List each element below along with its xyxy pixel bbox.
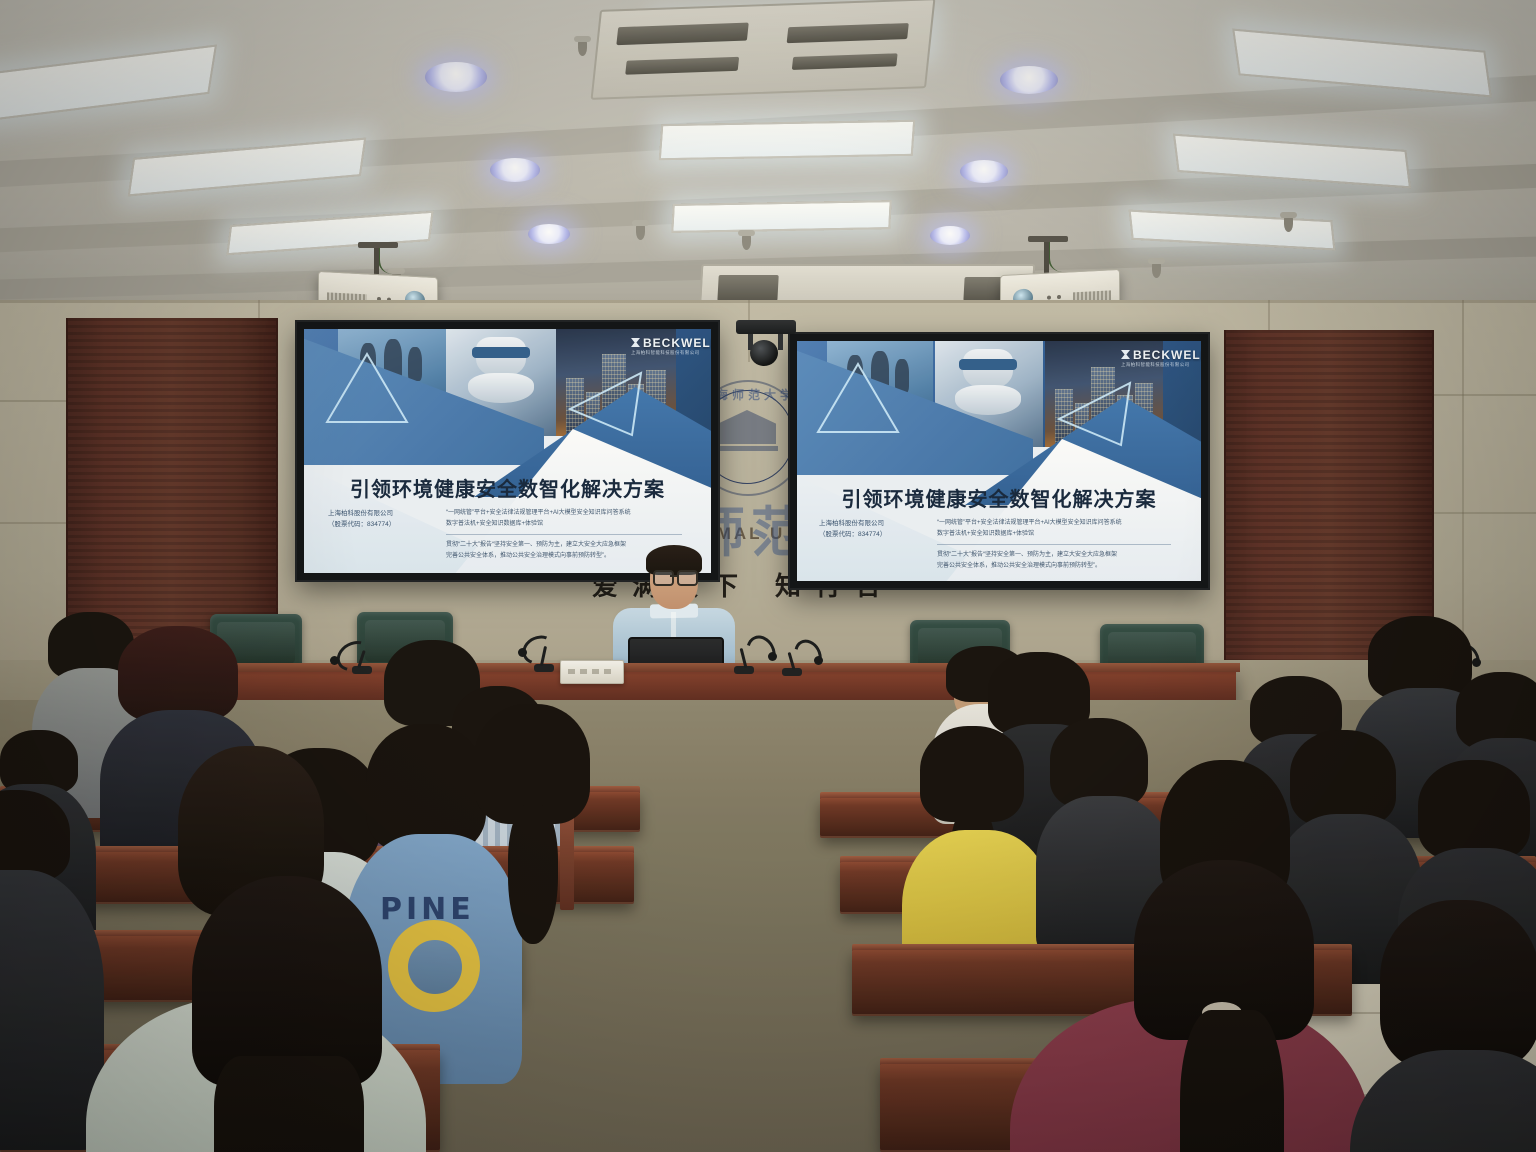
ponytail — [1180, 1010, 1284, 1152]
lecture-hall-photo: 上海师范大学 MAL U 师范 爱满天下 知行合一 — [0, 0, 1536, 1152]
slide-title: 引领环境健康安全数智化解决方案 — [797, 483, 1201, 512]
slide-body-line4: 完善公共安全体系，推动公共安全治理模式向事前预防转型”。 — [937, 562, 1101, 572]
sprinkler-head — [1284, 216, 1293, 232]
sprinkler-head — [1152, 262, 1161, 278]
slide-title: 引领环境健康安全数智化解决方案 — [304, 473, 711, 502]
slide-body-line3: 贯彻“二十大”报告“坚持安全第一、预防为主，建立大安全大应急框架 — [937, 551, 1117, 561]
hair-fall — [214, 1056, 364, 1152]
slide-right: BECKWELL 上海柏科智能科技股份有限公司 引领环境健康安全数智化解决方案 … — [797, 341, 1201, 581]
slide-body-line4: 完善公共安全体系，推动公共安全治理模式向事前预防转型”。 — [446, 552, 610, 562]
desk-nameplate — [560, 660, 624, 684]
backpack-text: PINE — [380, 892, 475, 927]
beckwell-logo: BECKWELL — [643, 336, 711, 350]
ceiling-downlight — [425, 62, 487, 92]
triangle-outline-right — [566, 369, 646, 439]
slide-company: 上海柏科股份有限公司 — [819, 519, 884, 529]
beckwell-logo: BECKWELL — [1133, 348, 1201, 362]
ceiling-light-panel — [671, 200, 891, 233]
triangle-outline-left — [815, 361, 901, 435]
slide-body-line1: “一网统管”平台+安全法律法规管理平台+AI大模型安全知识库问答系统 — [446, 509, 631, 519]
ceiling-downlight — [490, 158, 540, 182]
slide-body-line2: 数字普法机+安全知识数据库+体验馆 — [937, 530, 1034, 540]
beckwell-logo-subtext: 上海柏科智能科技股份有限公司 — [1121, 362, 1189, 368]
sprinkler-head — [636, 224, 645, 240]
backpack-patch-inner — [408, 940, 462, 994]
ceiling-downlight — [1000, 66, 1058, 94]
slide-stock-code: （股票代码：834774） — [819, 530, 886, 540]
ceiling-light-panel — [1129, 210, 1336, 251]
ceiling-light-panel — [659, 120, 915, 160]
projection-screen-left[interactable]: BECKWELL 上海柏科智能科技股份有限公司 引领环境健康安全数智化解决方案 … — [297, 322, 718, 580]
ceiling — [0, 0, 1536, 330]
projection-screen-right[interactable]: BECKWELL 上海柏科智能科技股份有限公司 引领环境健康安全数智化解决方案 … — [790, 334, 1208, 588]
slide-body-line1: “一网统管”平台+安全法律法规管理平台+AI大模型安全知识库问答系统 — [937, 519, 1122, 529]
triangle-outline-right — [1055, 379, 1135, 449]
slide-left: BECKWELL 上海柏科智能科技股份有限公司 引领环境健康安全数智化解决方案 … — [304, 329, 711, 573]
air-conditioning-vent — [591, 0, 936, 100]
sprinkler-head — [742, 234, 751, 250]
ceiling-light-panel — [0, 44, 217, 123]
slide-body-line3: 贯彻“二十大”报告“坚持安全第一、预防为主，建立大安全大应急框架 — [446, 541, 626, 551]
slide-company: 上海柏科股份有限公司 — [328, 509, 393, 519]
slide-stock-code: （股票代码：834774） — [328, 520, 395, 530]
beckwell-logo-subtext: 上海柏科智能科技股份有限公司 — [631, 350, 699, 356]
slide-body-line2: 数字普法机+安全知识数据库+体验馆 — [446, 520, 543, 530]
sprinkler-head — [578, 40, 587, 56]
ceiling-downlight — [930, 226, 970, 245]
ceiling-downlight — [528, 224, 570, 244]
ceiling-downlight — [960, 160, 1008, 183]
